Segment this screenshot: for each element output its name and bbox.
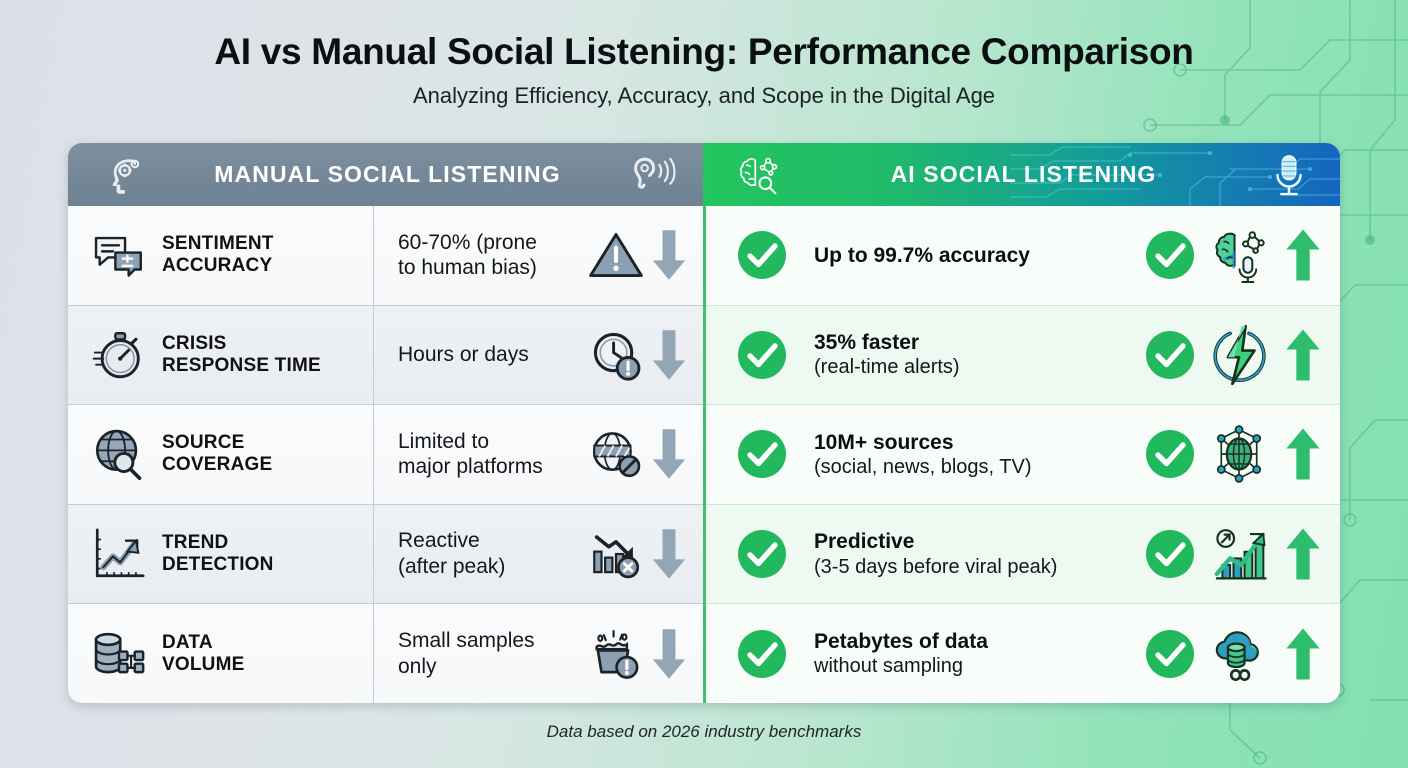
arrow-down-icon	[649, 525, 689, 583]
arrow-up-icon	[1282, 225, 1324, 285]
growth-chart-icon	[1208, 523, 1270, 585]
ai-column-header: AI SOCIAL LISTENING	[703, 143, 1340, 206]
table-row: Predictive (3-5 days before viral peak)	[706, 505, 1340, 605]
check-circle-icon	[736, 229, 788, 281]
arrow-down-icon	[649, 625, 689, 683]
arrow-down-icon	[649, 425, 689, 483]
ai-value-sub: (social, news, blogs, TV)	[814, 455, 1132, 479]
check-circle-icon	[736, 428, 788, 480]
ai-value-cell: 35% faster (real-time alerts)	[800, 330, 1132, 379]
ear-soundwave-icon	[623, 153, 681, 197]
manual-value-cell: Limited to major platforms	[374, 405, 703, 504]
manual-value-text: Small samples only	[398, 628, 587, 679]
category-label: CRISIS RESPONSE TIME	[162, 333, 321, 377]
footer-note: Data based on 2026 industry benchmarks	[0, 722, 1408, 742]
check-circle-icon	[736, 528, 788, 580]
manual-value-cell: 60-70% (prone to human bias)	[374, 206, 703, 305]
warning-triangle-icon	[587, 226, 645, 284]
ai-value-main: Up to 99.7% accuracy	[814, 243, 1132, 268]
ai-value-main: Predictive	[814, 529, 1132, 554]
stopwatch-icon	[90, 326, 148, 384]
category-cell: DATA VOLUME	[68, 604, 374, 703]
arrow-up-icon	[1282, 424, 1324, 484]
table-row: 35% faster (real-time alerts)	[706, 306, 1340, 406]
ai-column-label: AI SOCIAL LISTENING	[787, 161, 1260, 188]
table-row: Petabytes of data without sampling	[706, 604, 1340, 703]
trash-alert-icon	[587, 625, 645, 683]
ai-value-sub: (3-5 days before viral peak)	[814, 555, 1132, 579]
manual-column-header: MANUAL SOCIAL LISTENING	[68, 143, 703, 206]
globe-search-icon	[90, 425, 148, 483]
ai-value-cell: 10M+ sources (social, news, blogs, TV)	[800, 430, 1132, 479]
clock-alert-icon	[587, 326, 645, 384]
arrow-down-icon	[649, 326, 689, 384]
check-circle-icon	[1144, 229, 1196, 281]
arrow-up-icon	[1282, 325, 1324, 385]
table-body: SENTIMENT ACCURACY 60-70% (prone to huma…	[68, 206, 1340, 703]
globe-network-icon	[1208, 423, 1270, 485]
table-row: SENTIMENT ACCURACY 60-70% (prone to huma…	[68, 206, 703, 306]
table-row: Up to 99.7% accuracy	[706, 206, 1340, 306]
manual-column: SENTIMENT ACCURACY 60-70% (prone to huma…	[68, 206, 703, 703]
manual-value-text: Limited to major platforms	[398, 429, 587, 480]
check-circle-icon	[736, 329, 788, 381]
ai-value-sub: without sampling	[814, 654, 1132, 678]
category-label: SOURCE COVERAGE	[162, 432, 272, 476]
category-label: TREND DETECTION	[162, 532, 274, 576]
brain-mic-icon	[1208, 224, 1270, 286]
table-row: DATA VOLUME Small samples only	[68, 604, 703, 703]
category-cell: SOURCE COVERAGE	[68, 405, 374, 504]
manual-value-text: 60-70% (prone to human bias)	[398, 230, 587, 281]
ai-value-sub: (real-time alerts)	[814, 355, 1132, 379]
table-header-row: MANUAL SOCIAL LISTENING	[68, 143, 1340, 206]
ai-value-cell: Predictive (3-5 days before viral peak)	[800, 529, 1132, 578]
check-circle-icon	[1144, 428, 1196, 480]
check-circle-icon	[736, 628, 788, 680]
check-circle-icon	[1144, 329, 1196, 381]
microphone-icon	[1260, 152, 1318, 198]
chat-sentiment-icon	[90, 226, 148, 284]
comparison-table: MANUAL SOCIAL LISTENING	[68, 143, 1340, 703]
arrow-up-icon	[1282, 524, 1324, 584]
ai-value-cell: Up to 99.7% accuracy	[800, 243, 1132, 268]
table-row: 10M+ sources (social, news, blogs, TV)	[706, 405, 1340, 505]
manual-value-text: Reactive (after peak)	[398, 528, 587, 579]
table-row: SOURCE COVERAGE Limited to major platfor…	[68, 405, 703, 505]
category-cell: CRISIS RESPONSE TIME	[68, 306, 374, 405]
manual-value-cell: Reactive (after peak)	[374, 505, 703, 604]
arrow-up-icon	[1282, 624, 1324, 684]
head-gears-icon	[94, 153, 152, 197]
manual-value-cell: Hours or days	[374, 306, 703, 405]
database-nodes-icon	[90, 625, 148, 683]
category-label: DATA VOLUME	[162, 632, 244, 676]
cloud-database-infinity-icon	[1208, 623, 1270, 685]
brain-network-search-icon	[729, 153, 787, 197]
ai-value-main: Petabytes of data	[814, 629, 1132, 654]
check-circle-icon	[1144, 628, 1196, 680]
lightning-bolt-icon	[1208, 324, 1270, 386]
trend-chart-up-icon	[90, 525, 148, 583]
check-circle-icon	[1144, 528, 1196, 580]
ai-value-main: 10M+ sources	[814, 430, 1132, 455]
table-row: TREND DETECTION Reactive (after peak)	[68, 505, 703, 605]
table-row: CRISIS RESPONSE TIME Hours or days	[68, 306, 703, 406]
page-subtitle: Analyzing Efficiency, Accuracy, and Scop…	[0, 83, 1408, 109]
category-cell: SENTIMENT ACCURACY	[68, 206, 374, 305]
ai-value-cell: Petabytes of data without sampling	[800, 629, 1132, 678]
ai-value-main: 35% faster	[814, 330, 1132, 355]
arrow-down-icon	[649, 226, 689, 284]
category-cell: TREND DETECTION	[68, 505, 374, 604]
page-title: AI vs Manual Social Listening: Performan…	[0, 0, 1408, 73]
manual-value-text: Hours or days	[398, 342, 587, 368]
manual-value-cell: Small samples only	[374, 604, 703, 703]
chart-down-x-icon	[587, 525, 645, 583]
manual-column-label: MANUAL SOCIAL LISTENING	[152, 161, 623, 188]
category-label: SENTIMENT ACCURACY	[162, 233, 274, 277]
ai-column: Up to 99.7% accuracy	[703, 206, 1340, 703]
globe-blocked-icon	[587, 425, 645, 483]
